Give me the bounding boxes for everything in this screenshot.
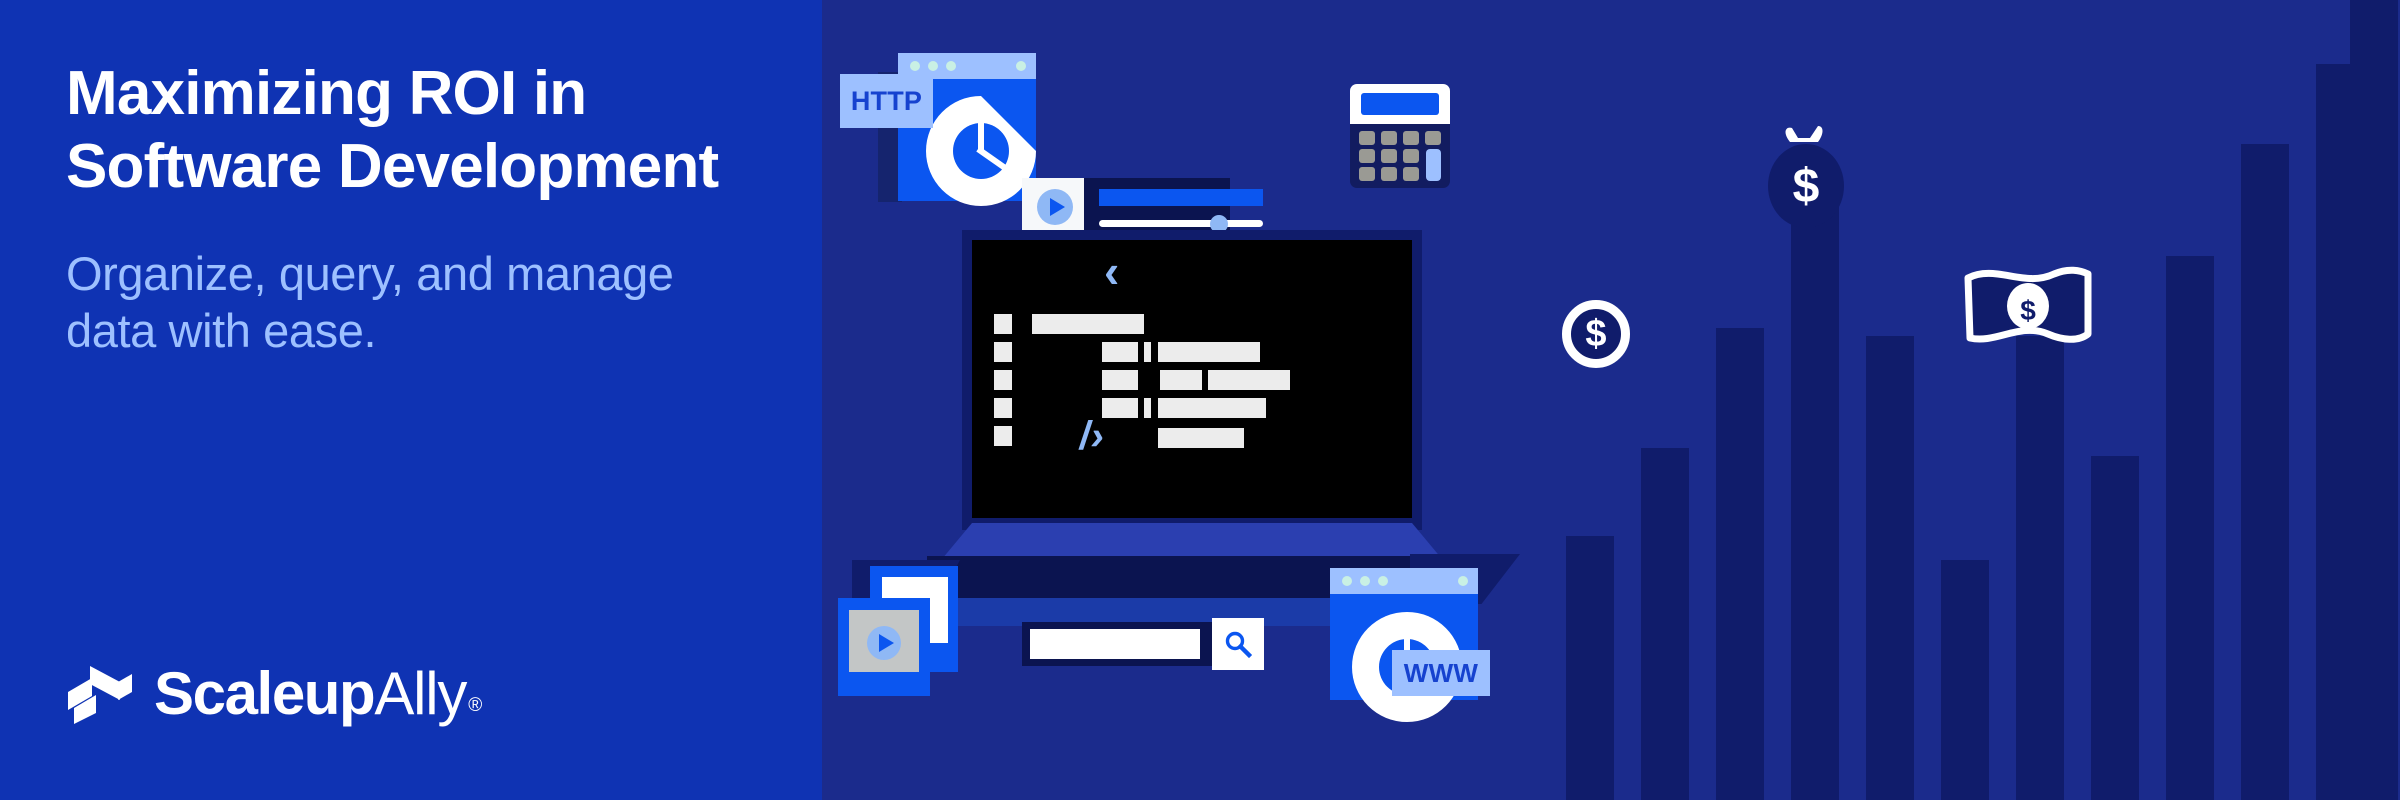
calculator-key <box>1359 167 1375 181</box>
window-dot-icon <box>946 61 956 71</box>
calculator-top <box>1350 84 1450 124</box>
video-progress-bar <box>1099 189 1263 206</box>
window-dot-icon <box>1342 576 1352 586</box>
browser-titlebar <box>1330 568 1478 594</box>
calculator-key <box>1425 131 1441 145</box>
page-title: Maximizing ROI in Software Development <box>66 58 766 203</box>
play-triangle <box>879 634 894 652</box>
play-triangle <box>1050 198 1065 216</box>
chart-bar <box>1641 448 1689 800</box>
banknote-icon: $ <box>1962 258 2094 356</box>
calculator-key <box>1403 149 1419 163</box>
calculator-key <box>1359 131 1375 145</box>
chart-bar <box>2091 456 2139 800</box>
calculator-key-enter <box>1426 149 1441 181</box>
logo-name-thin: Ally <box>374 664 466 724</box>
chart-bar <box>2166 256 2214 800</box>
video-slider-track[interactable] <box>1099 220 1263 227</box>
hero-copy: Maximizing ROI in Software Development O… <box>66 58 766 360</box>
chart-bar <box>1791 176 1839 800</box>
calculator-display <box>1361 93 1439 115</box>
window-dot-icon <box>928 61 938 71</box>
calculator-body <box>1350 124 1450 188</box>
window-dot-icon <box>1360 576 1370 586</box>
logo-wordmark: Scaleup Ally ® <box>154 664 482 724</box>
calculator-key <box>1403 131 1419 145</box>
svg-text:$: $ <box>1793 160 1820 213</box>
search-icon <box>1224 630 1252 658</box>
chart-bar <box>2016 336 2064 800</box>
window-dot-icon <box>910 61 920 71</box>
bar-chart <box>1566 0 2400 800</box>
pie-clock-icon <box>926 96 1036 206</box>
www-badge: WWW <box>1392 650 1490 696</box>
calculator-icon <box>1350 84 1450 188</box>
code-bracket-open: ‹ <box>1104 248 1119 294</box>
search-button[interactable] <box>1212 618 1264 670</box>
logo-name-bold: Scaleup <box>154 664 374 724</box>
calculator-key <box>1403 167 1419 181</box>
dollar-coin-icon: $ <box>1562 300 1630 368</box>
calculator-key <box>1359 149 1375 163</box>
play-icon[interactable] <box>1037 189 1073 225</box>
http-badge: HTTP <box>840 74 933 128</box>
laptop-base-top <box>942 523 1442 559</box>
clock-hand-vertical <box>978 104 984 152</box>
chart-bar <box>1866 336 1914 800</box>
page-subtitle: Organize, query, and manage data with ea… <box>66 245 766 360</box>
scaleupally-logo-mark-icon <box>66 662 140 724</box>
code-bracket-close: /› <box>1077 416 1107 456</box>
chart-bar <box>1716 328 1764 800</box>
calculator-key <box>1381 131 1397 145</box>
play-icon[interactable] <box>867 626 901 660</box>
calculator-key <box>1381 149 1397 163</box>
search-input[interactable] <box>1030 629 1200 659</box>
brand-logo[interactable]: Scaleup Ally ® <box>66 662 482 724</box>
chart-bar <box>1941 560 1989 800</box>
chart-bar <box>2350 0 2398 800</box>
chart-bar <box>2241 144 2289 800</box>
center-illustration: HTTP <box>822 0 1566 800</box>
svg-text:$: $ <box>2020 295 2036 326</box>
window-dot-icon <box>1458 576 1468 586</box>
window-dot-icon <box>1378 576 1388 586</box>
money-bag-icon: $ <box>1752 120 1862 230</box>
calculator-key <box>1381 167 1397 181</box>
hero-banner: Maximizing ROI in Software Development O… <box>0 0 2400 800</box>
registered-trademark-icon: ® <box>468 696 482 715</box>
window-dot-icon <box>1016 61 1026 71</box>
code-editor-screen: ‹ /› <box>972 240 1412 518</box>
chart-bar <box>1566 536 1614 800</box>
